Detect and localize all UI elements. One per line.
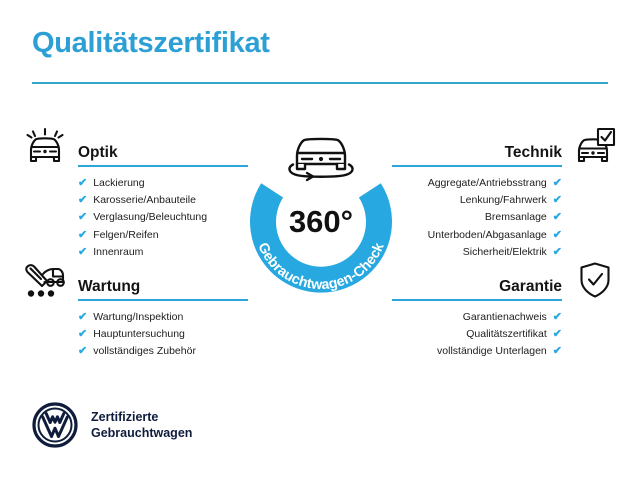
vw-logo-icon (32, 402, 78, 448)
list-item: ✔vollständiges Zubehör (78, 343, 248, 360)
section-header-wartung: Wartung (22, 258, 248, 302)
check-icon: ✔ (553, 212, 562, 223)
list-item: ✔Karosserie/Anbauteile (78, 192, 248, 209)
car-tools-icon (22, 259, 68, 301)
shield-check-icon (572, 259, 618, 301)
list-item-label: Felgen/Reifen (93, 230, 158, 241)
list-item: ✔vollständige Unterlagen (392, 343, 562, 360)
section-header-optik: Optik (22, 124, 248, 168)
checklist-wartung: ✔Wartung/Inspektion ✔Hauptuntersuchung ✔… (22, 309, 248, 361)
list-item-label: Karosserie/Anbauteile (93, 195, 196, 206)
check-icon: ✔ (78, 247, 87, 258)
list-item-label: Lenkung/Fahrwerk (460, 195, 547, 206)
list-item: ✔Aggregate/Antriebsstrang (392, 175, 562, 192)
section-divider-garantie (392, 299, 562, 301)
section-optik: Optik ✔Lackierung ✔Karosserie/Anbauteile… (22, 124, 248, 261)
section-technik: Technik ✔Aggregate/Antriebsstrang ✔Lenku… (392, 124, 618, 261)
check-icon: ✔ (78, 212, 87, 223)
car-shine-icon (22, 125, 68, 167)
check-icon: ✔ (553, 346, 562, 357)
list-item-label: Garantienachweis (463, 312, 547, 323)
list-item-label: Qualitätszertifikat (466, 329, 547, 340)
list-item: ✔Lenkung/Fahrwerk (392, 192, 562, 209)
check-icon: ✔ (78, 312, 87, 323)
list-item: ✔Wartung/Inspektion (78, 309, 248, 326)
check-icon: ✔ (78, 195, 87, 206)
footer-text: Zertifizierte Gebrauchtwagen (91, 409, 192, 442)
list-item: ✔Qualitätszertifikat (392, 326, 562, 343)
list-item-label: vollständige Unterlagen (437, 346, 547, 357)
list-item-label: Hauptuntersuchung (93, 329, 185, 340)
list-item-label: Lackierung (93, 178, 144, 189)
check-icon: ✔ (553, 230, 562, 241)
list-item-label: vollständiges Zubehör (93, 346, 196, 357)
list-item: ✔Felgen/Reifen (78, 227, 248, 244)
page-header: Qualitätszertifikat (32, 28, 608, 84)
list-item: ✔Lackierung (78, 175, 248, 192)
list-item: ✔Unterboden/Abgasanlage (392, 227, 562, 244)
car-rotate-icon (289, 139, 352, 180)
section-title-wrap-optik: Optik (68, 125, 248, 167)
footer-line-2: Gebrauchtwagen (91, 425, 192, 442)
badge-center-label: 360° (289, 204, 353, 239)
checklist-garantie: ✔Garantienachweis ✔Qualitätszertifikat ✔… (392, 309, 618, 361)
section-title-technik: Technik (505, 144, 562, 165)
section-title-optik: Optik (78, 144, 248, 165)
check-icon: ✔ (553, 195, 562, 206)
page-title: Qualitätszertifikat (32, 28, 608, 60)
list-item-label: Wartung/Inspektion (93, 312, 183, 323)
section-title-wrap-wartung: Wartung (68, 259, 248, 301)
section-wartung: Wartung ✔Wartung/Inspektion ✔Hauptunters… (22, 258, 248, 361)
section-header-garantie: Garantie (392, 258, 618, 302)
check-icon: ✔ (78, 178, 87, 189)
header-divider (32, 82, 608, 84)
section-title-wartung: Wartung (78, 278, 248, 299)
section-title-wrap-garantie: Garantie (392, 259, 572, 301)
list-item: ✔Hauptuntersuchung (78, 326, 248, 343)
check-icon: ✔ (553, 329, 562, 340)
section-divider-wartung (78, 299, 248, 301)
list-item: ✔Verglasung/Beleuchtung (78, 209, 248, 226)
list-item: ✔Bremsanlage (392, 209, 562, 226)
list-item-label: Verglasung/Beleuchtung (93, 212, 207, 223)
section-title-garantie: Garantie (499, 278, 562, 299)
list-item-label: Aggregate/Antriebsstrang (428, 178, 547, 189)
section-header-technik: Technik (392, 124, 618, 168)
section-divider-technik (392, 165, 562, 167)
check-icon: ✔ (78, 346, 87, 357)
badge-360-gebrauchtwagen-check: 360° Gebrauchtwagen-Check (236, 122, 406, 312)
list-item: ✔Garantienachweis (392, 309, 562, 326)
list-item-label: Sicherheit/Elektrik (463, 247, 547, 258)
list-item-label: Bremsanlage (485, 212, 547, 223)
list-item-label: Innenraum (93, 247, 143, 258)
section-divider-optik (78, 165, 248, 167)
check-icon: ✔ (78, 329, 87, 340)
footer-brand: Zertifizierte Gebrauchtwagen (32, 402, 192, 448)
footer-line-1: Zertifizierte (91, 409, 192, 426)
check-icon: ✔ (553, 247, 562, 258)
car-checkbox-icon (572, 125, 618, 167)
section-garantie: Garantie ✔Garantienachweis ✔Qualitätszer… (392, 258, 618, 361)
section-title-wrap-technik: Technik (392, 125, 572, 167)
checklist-optik: ✔Lackierung ✔Karosserie/Anbauteile ✔Verg… (22, 175, 248, 261)
list-item-label: Unterboden/Abgasanlage (428, 230, 547, 241)
checklist-technik: ✔Aggregate/Antriebsstrang ✔Lenkung/Fahrw… (392, 175, 618, 261)
check-icon: ✔ (553, 178, 562, 189)
check-icon: ✔ (78, 230, 87, 241)
check-icon: ✔ (553, 312, 562, 323)
